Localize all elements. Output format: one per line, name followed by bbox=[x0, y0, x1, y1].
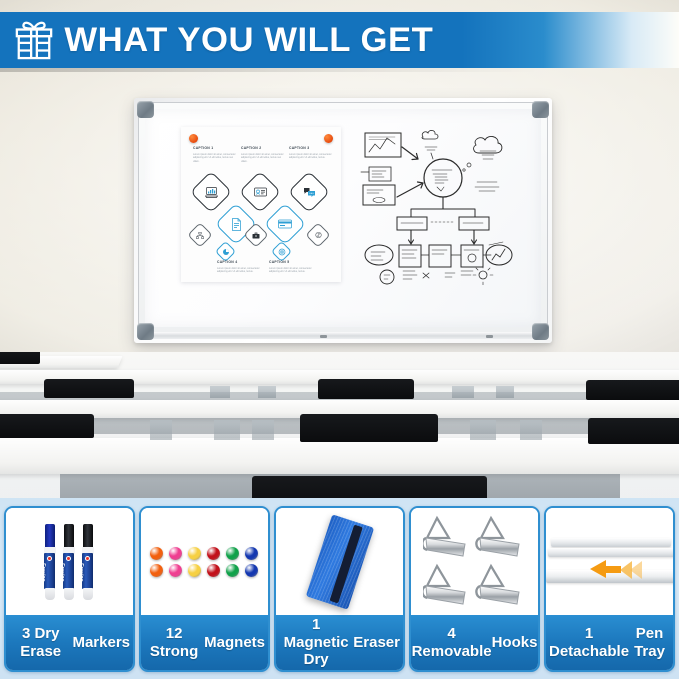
chair-2 bbox=[44, 379, 134, 398]
bank-icon bbox=[278, 248, 286, 256]
whiteboard-corner-top-right bbox=[532, 101, 549, 118]
chair-6 bbox=[300, 414, 438, 442]
pen-tray-shape bbox=[546, 536, 673, 588]
magnet bbox=[245, 564, 258, 577]
chart-laptop-icon bbox=[205, 187, 218, 198]
poster-caption-3: CAPTION 3 Lorem ipsum dolor sit amet, co… bbox=[289, 147, 334, 160]
marker-2: Erasing bbox=[63, 524, 75, 600]
feature-card-eraser[interactable]: 1 Magnetic DryEraser bbox=[274, 506, 405, 672]
pie-chart-icon bbox=[222, 248, 230, 256]
feature-card-magnets[interactable]: 12 StrongMagnets bbox=[139, 506, 270, 672]
poster-magnet-left bbox=[189, 134, 198, 143]
credit-card-icon bbox=[278, 219, 292, 229]
chair-4 bbox=[586, 380, 679, 400]
hand-drawn-mind-map bbox=[359, 125, 519, 285]
feature-label-hooks: 4 RemovableHooks bbox=[411, 615, 538, 670]
chat-bubbles-icon bbox=[303, 187, 316, 198]
header-banner: WHAT YOU WILL GET bbox=[0, 12, 679, 68]
magnet bbox=[169, 547, 182, 560]
magnet bbox=[207, 547, 220, 560]
tray-pen-2 bbox=[486, 335, 493, 338]
magnet bbox=[207, 564, 220, 577]
whiteboard-corner-bottom-left bbox=[137, 323, 154, 340]
desk-row-3 bbox=[0, 438, 679, 474]
feature-label-magnets: 12 StrongMagnets bbox=[141, 615, 268, 670]
magnet bbox=[245, 547, 258, 560]
feature-card-pen-tray[interactable]: 1 DetachablePen Tray bbox=[544, 506, 675, 672]
eraser-image bbox=[276, 508, 403, 615]
magnet bbox=[226, 564, 239, 577]
whiteboard-corner-bottom-right bbox=[532, 323, 549, 340]
marker-1: Erasing bbox=[44, 524, 56, 600]
feature-strip: Erasing Erasing Erasing bbox=[0, 498, 679, 679]
feature-label-eraser: 1 Magnetic DryEraser bbox=[276, 615, 403, 670]
briefcase-icon bbox=[252, 232, 260, 239]
detach-arrow-icon bbox=[590, 560, 606, 578]
gift-box-icon bbox=[14, 19, 54, 61]
chair-7 bbox=[588, 418, 679, 444]
hooks-group-icon bbox=[423, 514, 527, 610]
org-chart-icon bbox=[196, 232, 204, 239]
coin-icon bbox=[315, 231, 322, 239]
magnetic-eraser-shape bbox=[305, 514, 373, 609]
whiteboard-pen-tray bbox=[150, 332, 536, 339]
poster-caption-5: CAPTION 5 Lorem ipsum dolor sit amet, co… bbox=[269, 261, 314, 274]
id-card-icon bbox=[254, 187, 267, 197]
magnet bbox=[188, 564, 201, 577]
feature-card-hooks[interactable]: 4 RemovableHooks bbox=[409, 506, 540, 672]
header-shadow bbox=[0, 68, 540, 72]
whiteboard-surface: CAPTION 1 Lorem ipsum dolor sit amet, co… bbox=[145, 109, 541, 327]
magnet bbox=[169, 564, 182, 577]
poster-magnet-right bbox=[324, 134, 333, 143]
magnet bbox=[150, 547, 163, 560]
pen-tray-image bbox=[546, 508, 673, 615]
infographic-poster: CAPTION 1 Lorem ipsum dolor sit amet, co… bbox=[181, 127, 341, 282]
feature-label-pen-tray: 1 DetachablePen Tray bbox=[546, 615, 673, 670]
magnet bbox=[226, 547, 239, 560]
whiteboard: CAPTION 1 Lorem ipsum dolor sit amet, co… bbox=[134, 98, 552, 343]
feature-card-list: Erasing Erasing Erasing bbox=[4, 506, 675, 672]
magnet bbox=[150, 564, 163, 577]
tray-pen-1 bbox=[320, 335, 327, 338]
marker-3: Erasing bbox=[82, 524, 94, 600]
poster-caption-1: CAPTION 1 Lorem ipsum dolor sit amet, co… bbox=[193, 147, 238, 164]
markers-image: Erasing Erasing Erasing bbox=[6, 508, 133, 615]
poster-caption-4: CAPTION 4 Lorem ipsum dolor sit amet, co… bbox=[217, 261, 262, 274]
magnet bbox=[188, 547, 201, 560]
magnets-image bbox=[141, 508, 268, 615]
chair-5 bbox=[0, 414, 94, 438]
page-title: WHAT YOU WILL GET bbox=[64, 21, 433, 60]
classroom-room bbox=[0, 352, 679, 510]
feature-label-markers: 3 Dry EraseMarkers bbox=[6, 615, 133, 670]
poster-caption-2: CAPTION 2 Lorem ipsum dolor sit amet, co… bbox=[241, 147, 286, 164]
whiteboard-corner-top-left bbox=[137, 101, 154, 118]
document-icon bbox=[231, 218, 242, 231]
chair-3 bbox=[318, 379, 414, 399]
feature-card-markers[interactable]: Erasing Erasing Erasing bbox=[4, 506, 135, 672]
hooks-image bbox=[411, 508, 538, 615]
chair-1 bbox=[0, 352, 40, 364]
product-scene: CAPTION 1 Lorem ipsum dolor sit amet, co… bbox=[0, 0, 679, 510]
